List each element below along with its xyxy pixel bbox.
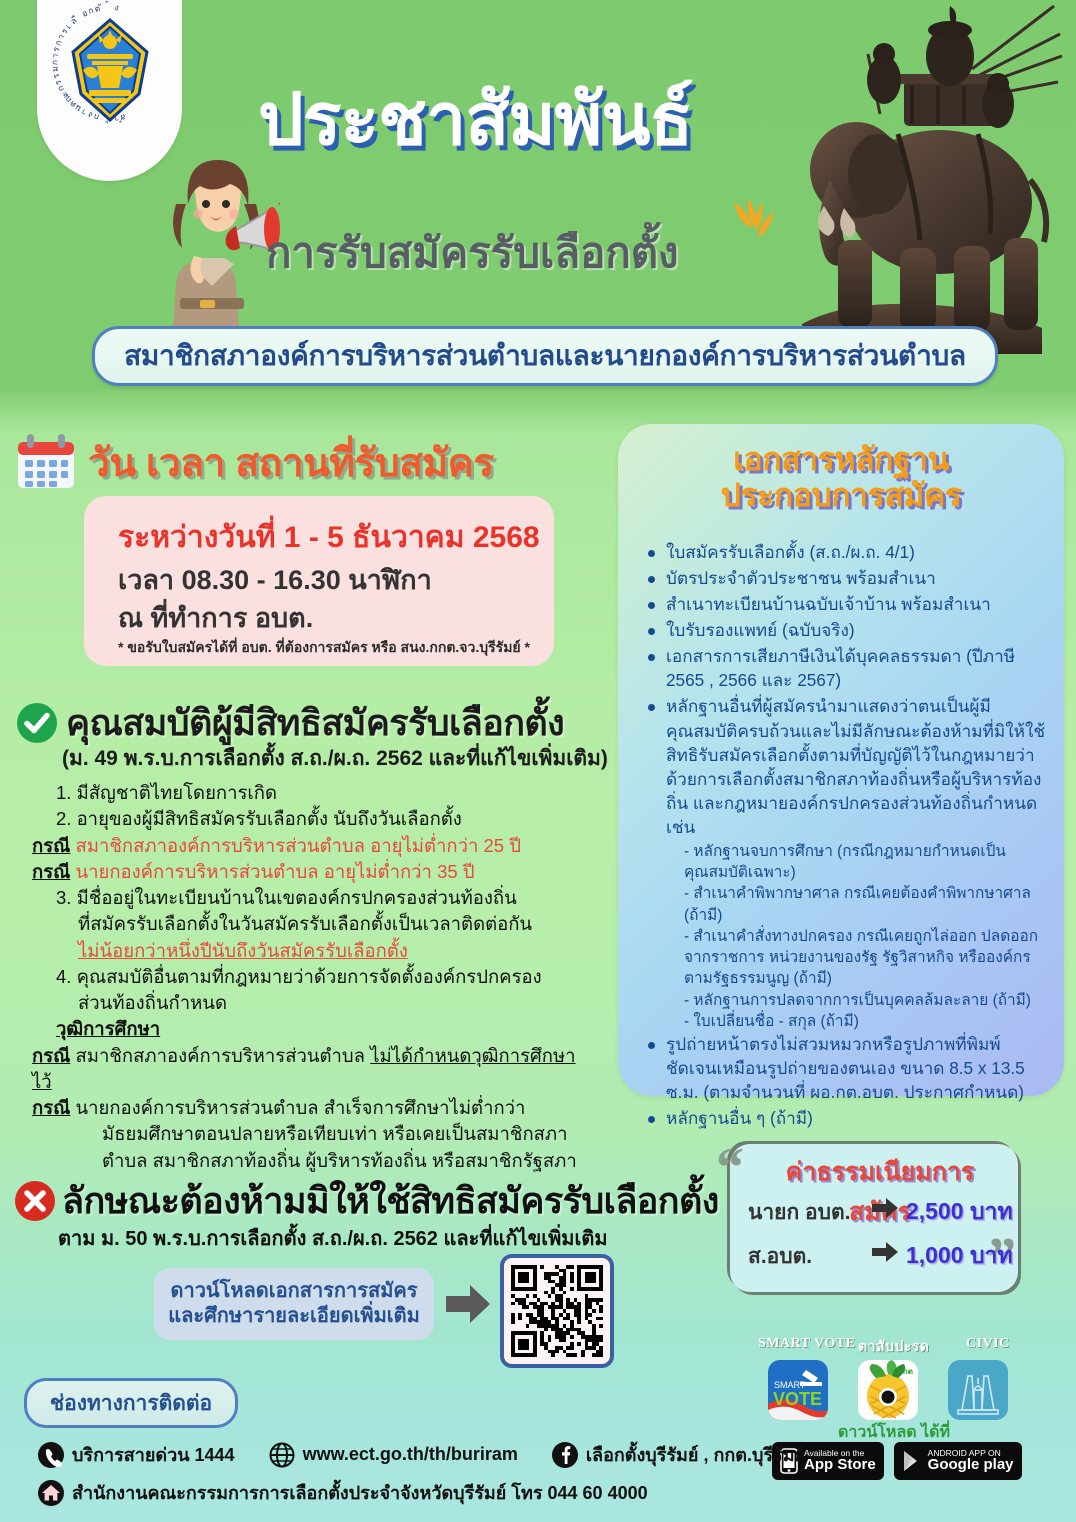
documents-title-line-2: ประกอบการสมัคร: [618, 478, 1064, 514]
hotline-text: บริการสายด่วน 1444: [72, 1440, 235, 1469]
page-subtitle: การรับสมัครรับเลือกตั้ง: [266, 232, 766, 274]
globe-icon: [269, 1442, 295, 1468]
document-sub-item: - สำเนาคำสั่งทางปกครอง กรณีเคยถูกไล่ออก …: [640, 926, 1050, 990]
qualification-case-2: กรณี นายกองค์การบริหารส่วนตำบล อายุไม่ต่…: [32, 859, 592, 885]
banner-text: สมาชิกสภาองค์การบริหารส่วนตำบลและนายกองค…: [124, 334, 966, 378]
qualification-item-3-line-3: ไม่น้อยกว่าหนึ่งปีนับถึงวันสมัครรับเลือก…: [32, 938, 592, 964]
datetime-card: ระหว่างวันที่ 1 - 5 ธันวาคม 2568 เวลา 08…: [84, 496, 554, 666]
education-case-2-line-2: มัธยมศึกษาตอนปลายหรือเทียบเท่า หรือเคยเป…: [32, 1121, 592, 1147]
education-case-2-line-1: นายกองค์การบริหารส่วนตำบล สำเร็จการศึกษา…: [75, 1097, 525, 1118]
arrow-right-icon: [872, 1198, 898, 1218]
sparkle-icon: [726, 196, 786, 256]
arrow-right-icon: [446, 1285, 490, 1323]
facebook-text: เลือกตั้งบุรีรัมย์ , กกต.บุรีรัมย์: [586, 1440, 805, 1469]
announcer-girl-illustration: [150, 160, 280, 345]
qualifications-body: 1. มีสัญชาติไทยโดยการเกิด 2. อายุของผู้ม…: [32, 780, 592, 1174]
documents-title: เอกสารหลักฐาน ประกอบการสมัคร: [618, 442, 1064, 514]
app-label-civic: CIVIC: [966, 1336, 1010, 1352]
app-store-label: App Store: [804, 1457, 876, 1473]
document-item: ใบสมัครรับเลือกตั้ง (ส.ถ./ผ.ถ. 4/1): [640, 540, 1050, 564]
document-item: ใบรับรองแพทย์ (ฉบับจริง): [640, 618, 1050, 642]
document-sub-item: - ใบเปลี่ยนชื่อ - สกุล (ถ้ามี): [640, 1011, 1050, 1032]
contact-row-2: สำนักงานคณะกรรมการการเลือกตั้งประจำจังหว…: [38, 1478, 648, 1507]
education-case-2-line-3: ตำบล สมาชิกสภาท้องถิ่น ผู้บริหารท้องถิ่น…: [32, 1148, 592, 1174]
document-item: สำเนาทะเบียนบ้านฉบับเจ้าบ้าน พร้อมสำเนา: [640, 592, 1050, 616]
poster-root: สำนักงานคณะกรรมการการเลือกตั้ง: [0, 0, 1076, 1522]
education-heading: วุฒิการศึกษา: [32, 1016, 592, 1042]
app-labels: SMART VOTE ตาสับปะรด CIVIC: [748, 1336, 1034, 1358]
datetime-section-title: วัน เวลา สถานที่รับสมัคร: [88, 432, 494, 494]
x-circle-icon: [14, 1180, 56, 1222]
case-1-text: สมาชิกสภาองค์การบริหารส่วนตำบล อายุไม่ต่…: [75, 835, 521, 856]
contact-row-1: บริการสายด่วน 1444 www.ect.go.th/th/buri…: [38, 1440, 805, 1469]
fee-row-2-label: ส.อบต.: [748, 1240, 812, 1273]
qualification-item-2: 2. อายุของผู้มีสิทธิสมัครรับเลือกตั้ง นั…: [32, 806, 592, 832]
qualification-item-4-line-1: 4. คุณสมบัติอื่นตามที่กฎหมายว่าด้วยการจั…: [32, 964, 592, 990]
document-sub-item: - หลักฐานการปลดจากการเป็นบุคคลล้มละลาย (…: [640, 990, 1050, 1011]
education-case-1-text: สมาชิกสภาองค์การบริหารส่วนตำบล: [75, 1045, 365, 1066]
document-item: หลักฐานอื่นที่ผู้สมัครนำมาแสดงว่าตนเป็นผ…: [640, 694, 1050, 838]
website-text[interactable]: www.ect.go.th/th/buriram: [303, 1444, 518, 1465]
qualification-item-3-line-2: ที่สมัครรับเลือกตั้งในวันสมัครรับเลือกตั…: [32, 911, 592, 937]
contact-pill-label: ช่องทางการติดต่อ: [50, 1387, 212, 1420]
document-item: บัตรประจำตัวประชาชน พร้อมสำเนา: [640, 566, 1050, 590]
application-date-range: ระหว่างวันที่ 1 - 5 ธันวาคม 2568: [118, 514, 540, 561]
application-time: เวลา 08.30 - 16.30 นาฬิกา: [118, 558, 432, 601]
fee-row-1-value: 2,500 บาท: [906, 1194, 1013, 1230]
google-play-icon: [902, 1450, 922, 1472]
case-label: กรณี: [32, 1097, 70, 1118]
ect-logo-badge: สำนักงานคณะกรรมการการเลือกตั้ง: [37, 0, 182, 181]
qr-code[interactable]: [500, 1254, 614, 1368]
application-note: * ขอรับใบสมัครได้ที่ อบต. ที่ต้องการสมัค…: [118, 637, 530, 659]
pineapple-eye-app-icon[interactable]: กกต: [858, 1360, 918, 1420]
prohibitions-subtitle: ตาม ม. 50 พ.ร.บ.การเลือกตั้ง ส.ถ./ผ.ถ. 2…: [58, 1222, 608, 1254]
svg-text:VOTE: VOTE: [773, 1389, 822, 1409]
arrow-right-icon: [872, 1242, 898, 1262]
documents-panel: เอกสารหลักฐาน ประกอบการสมัคร ใบสมัครรับเ…: [618, 424, 1064, 1096]
calendar-icon: [14, 430, 78, 494]
qualification-item-3-line-1: 3. มีชื่ออยู่ในทะเบียนบ้านในเขตองค์กรปกค…: [32, 885, 592, 911]
home-icon: [38, 1480, 64, 1506]
google-play-label: Google play: [928, 1457, 1014, 1473]
case-label: กรณี: [32, 861, 70, 882]
document-sub-item: - หลักฐานจบการศึกษา (กรณีกฎหมายกำหนดเป็น…: [640, 841, 1050, 884]
documents-list: ใบสมัครรับเลือกตั้ง (ส.ถ./ผ.ถ. 4/1) บัตร…: [640, 540, 1050, 1133]
elephant-statue-image: [772, 0, 1072, 354]
app-icons-row: SMART VOTE กกต: [748, 1360, 1034, 1422]
office-text: สำนักงานคณะกรรมการการเลือกตั้งประจำจังหว…: [72, 1478, 648, 1507]
phone-icon: [38, 1442, 64, 1468]
civic-monument-app-icon[interactable]: [948, 1360, 1008, 1420]
contact-channels-pill: ช่องทางการติดต่อ: [24, 1378, 238, 1428]
case-2-text: นายกองค์การบริหารส่วนตำบล อายุไม่ต่ำกว่า…: [75, 861, 474, 882]
document-item: รูปถ่ายหน้าตรงไม่สวมหมวกหรือรูปภาพที่พิม…: [640, 1032, 1050, 1104]
app-label-talad-pradu: ตาสับปะรด: [858, 1336, 929, 1358]
quote-open-icon: “: [716, 1140, 744, 1196]
facebook-icon: [552, 1442, 578, 1468]
download-line-1: ดาวน์โหลดเอกสารการสมัคร: [170, 1279, 417, 1304]
download-line-2: และศึกษารายละเอียดเพิ่มเติม: [168, 1304, 420, 1329]
document-item: เอกสารการเสียภาษีเงินได้บุคคลธรรมดา (ปีภ…: [640, 644, 1050, 692]
banner-office-type: สมาชิกสภาองค์การบริหารส่วนตำบลและนายกองค…: [92, 326, 998, 386]
download-documents-box[interactable]: ดาวน์โหลดเอกสารการสมัคร และศึกษารายละเอี…: [154, 1268, 434, 1340]
google-play-badge[interactable]: ANDROID APP ON Google play: [894, 1442, 1022, 1480]
qualifications-subtitle: (ม. 49 พ.ร.บ.การเลือกตั้ง ส.ถ./ผ.ถ. 2562…: [62, 742, 608, 775]
store-badges-row: Available on the App Store ANDROID APP O…: [772, 1442, 1022, 1480]
prohibitions-title: ลักษณะต้องห้ามมิให้ใช้สิทธิสมัครรับเลือก…: [62, 1172, 719, 1229]
qualification-item-4-line-2: ส่วนท้องถิ่นกำหนด: [32, 990, 592, 1016]
case-label: กรณี: [32, 835, 70, 856]
application-place: ณ ที่ทำการ อบต.: [118, 596, 313, 639]
page-title: ประชาสัมพันธ์: [258, 84, 788, 156]
document-item: หลักฐานอื่น ๆ (ถ้ามี): [640, 1106, 1050, 1130]
fee-row-2-value: 1,000 บาท: [906, 1238, 1013, 1274]
app-badges-group: SMART VOTE ตาสับปะรด CIVIC SMART VOTE: [748, 1336, 1034, 1422]
app-label-smart-vote: SMART VOTE: [758, 1336, 855, 1352]
qualification-case-1: กรณี สมาชิกสภาองค์การบริหารส่วนตำบล อายุ…: [32, 833, 592, 859]
ect-emblem-icon: [67, 18, 153, 122]
case-label: กรณี: [32, 1045, 70, 1066]
svg-text:กกต: กกต: [898, 1367, 913, 1376]
qualification-item-1: 1. มีสัญชาติไทยโดยการเกิด: [32, 780, 592, 806]
smart-vote-app-icon[interactable]: SMART VOTE: [768, 1360, 828, 1420]
qr-code-pattern: [511, 1265, 603, 1357]
education-case-2: กรณี นายกองค์การบริหารส่วนตำบล สำเร็จการ…: [32, 1095, 592, 1121]
documents-title-line-1: เอกสารหลักฐาน: [618, 442, 1064, 478]
check-circle-icon: [16, 702, 58, 744]
education-case-1: กรณี สมาชิกสภาองค์การบริหารส่วนตำบล ไม่ไ…: [32, 1043, 592, 1096]
fee-row-1-label: นายก อบต.: [748, 1196, 850, 1229]
document-sub-item: - สำเนาคำพิพากษาศาล กรณีเคยต้องคำพิพากษา…: [640, 883, 1050, 926]
